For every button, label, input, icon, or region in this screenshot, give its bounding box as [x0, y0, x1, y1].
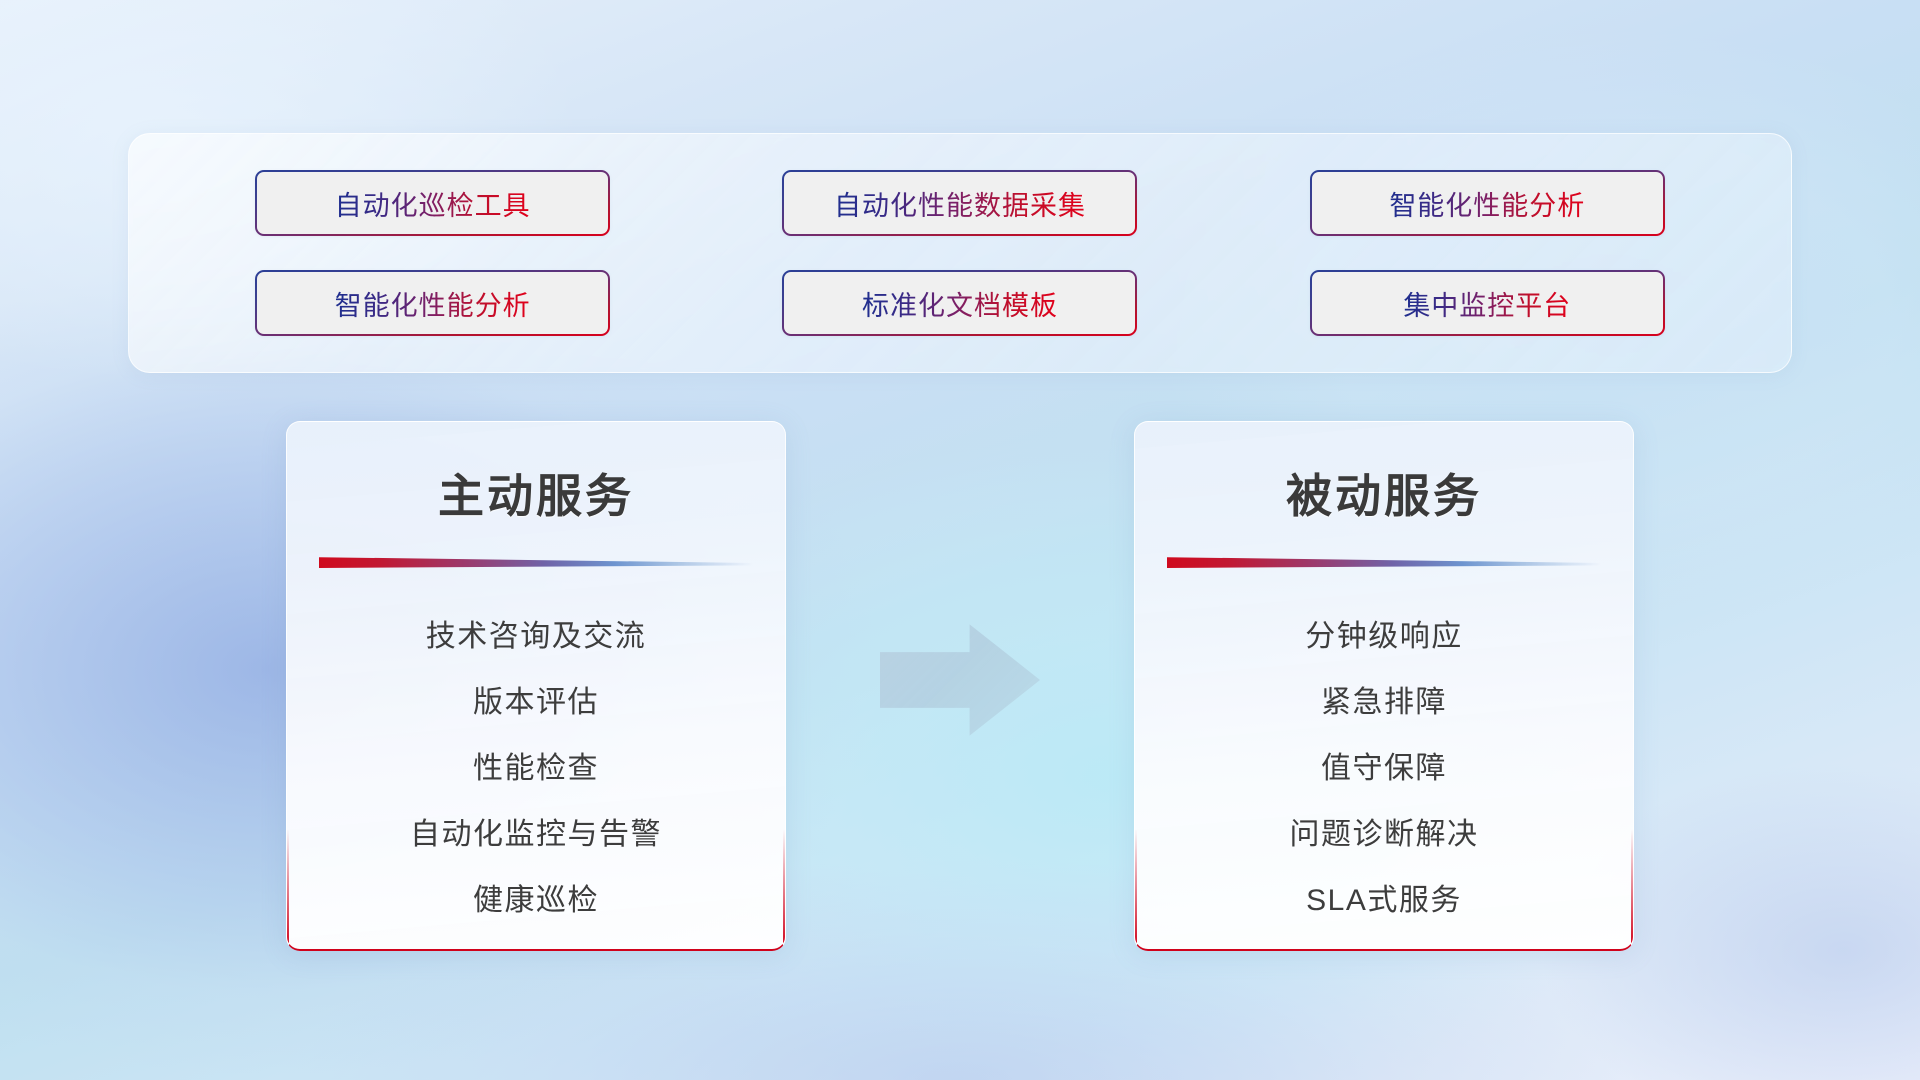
divider-wedge	[1167, 556, 1601, 568]
capability-label: 自动化巡检工具	[335, 184, 531, 223]
list-item: 紧急排障	[1161, 670, 1607, 736]
capability-label: 标准化文档模板	[862, 284, 1058, 323]
list-item: 分钟级响应	[1161, 604, 1607, 670]
slide-canvas: 自动化巡检工具 自动化性能数据采集 智能化性能分析 智能化性能分析 标准化文档模…	[0, 0, 1920, 1080]
active-service-list: 技术咨询及交流 版本评估 性能检查 自动化监控与告警 健康巡检	[287, 604, 785, 934]
capability-pill[interactable]: 自动化性能数据采集	[782, 170, 1137, 236]
divider-wedge	[319, 556, 753, 568]
list-item: 技术咨询及交流	[313, 604, 759, 670]
capability-pill[interactable]: 集中监控平台	[1310, 270, 1665, 336]
list-item: 自动化监控与告警	[313, 802, 759, 868]
list-item: 健康巡检	[313, 868, 759, 934]
capability-pill[interactable]: 自动化巡检工具	[255, 170, 610, 236]
capability-label: 集中监控平台	[1403, 284, 1571, 323]
capability-label: 智能化性能分析	[1389, 184, 1585, 223]
list-item: SLA式服务	[1161, 868, 1607, 934]
title-divider	[319, 556, 753, 568]
list-item: 问题诊断解决	[1161, 802, 1607, 868]
passive-service-list: 分钟级响应 紧急排障 值守保障 问题诊断解决 SLA式服务	[1135, 604, 1633, 934]
list-item: 版本评估	[313, 670, 759, 736]
capability-pill[interactable]: 标准化文档模板	[782, 270, 1137, 336]
capability-label: 智能化性能分析	[335, 284, 531, 323]
capabilities-grid: 自动化巡检工具 自动化性能数据采集 智能化性能分析 智能化性能分析 标准化文档模…	[129, 134, 1791, 372]
title-divider	[1167, 556, 1601, 568]
capability-pill[interactable]: 智能化性能分析	[1310, 170, 1665, 236]
capabilities-panel: 自动化巡检工具 自动化性能数据采集 智能化性能分析 智能化性能分析 标准化文档模…	[128, 133, 1792, 373]
capability-label: 自动化性能数据采集	[834, 184, 1086, 223]
active-service-card: 主动服务 技术咨询及交流 版本评估 性能检查 自动化监控与告警 健康巡检	[286, 421, 786, 951]
card-title: 被动服务	[1135, 460, 1633, 526]
list-item: 性能检查	[313, 736, 759, 802]
card-title: 主动服务	[287, 460, 785, 526]
list-item: 值守保障	[1161, 736, 1607, 802]
capability-pill[interactable]: 智能化性能分析	[255, 270, 610, 336]
passive-service-card: 被动服务 分钟级响应 紧急排障 值守保障 问题诊断解决 SLA式服务	[1134, 421, 1634, 951]
